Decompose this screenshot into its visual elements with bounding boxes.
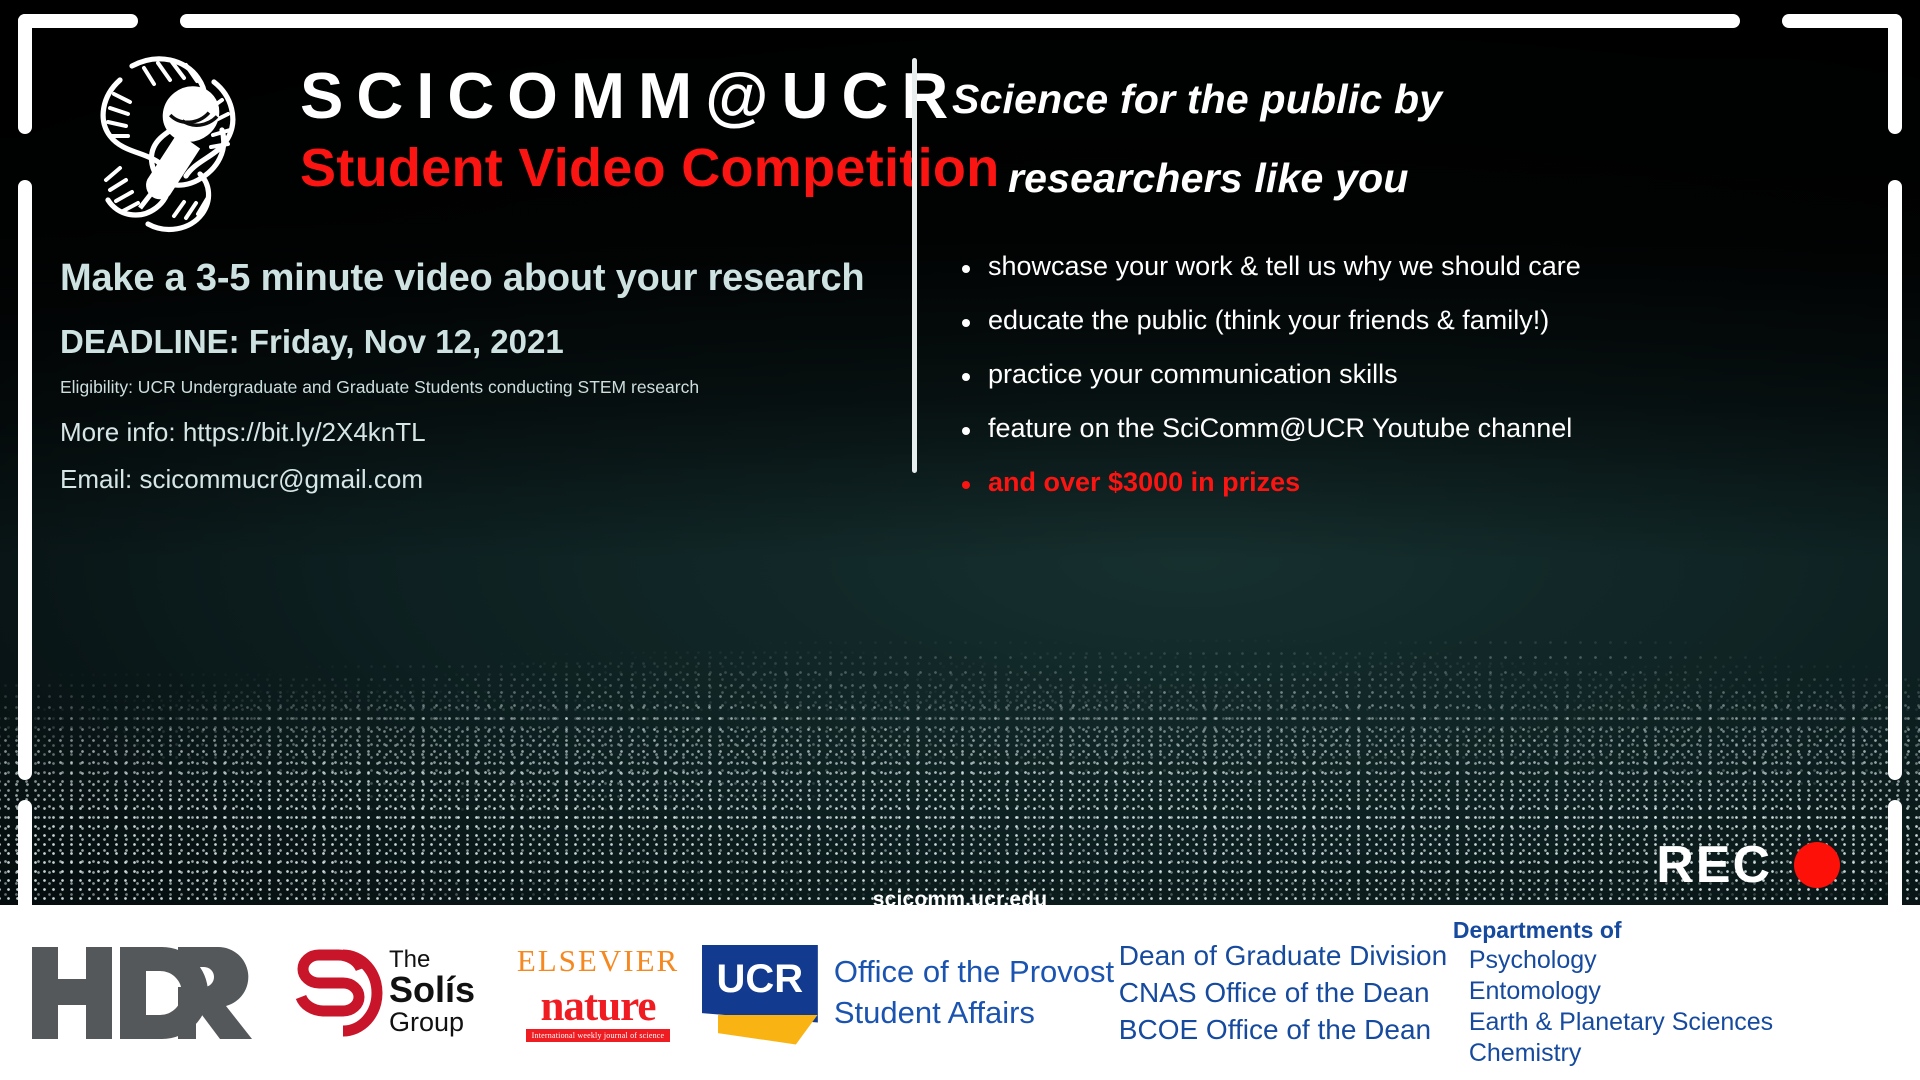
departments-title: Departments of [1453, 916, 1773, 945]
ucr-office-line-1: Office of the Provost [834, 952, 1114, 992]
headline-line-2: researchers like you [952, 139, 1852, 218]
nature-wordmark: nature [540, 987, 655, 1027]
department-item: Psychology [1453, 945, 1773, 976]
email-link[interactable]: Email: scicommucr@gmail.com [60, 464, 910, 495]
rec-indicator: REC [1656, 835, 1840, 895]
ucr-office-text: Office of the Provost Student Affairs [834, 952, 1114, 1033]
list-item-prizes: and over $3000 in prizes [952, 467, 1852, 498]
sponsor-ucr-provost: UCR Office of the Provost Student Affair… [698, 945, 1118, 1041]
poster-root: SCICOMM@UCR Student Video Competition Ma… [0, 0, 1920, 1080]
left-info-column: Make a 3-5 minute video about your resea… [60, 256, 910, 495]
subtitle-competition: Student Video Competition [300, 138, 900, 198]
column-divider [912, 58, 917, 473]
deadline-text: DEADLINE: Friday, Nov 12, 2021 [60, 323, 910, 361]
rec-label: REC [1656, 835, 1772, 895]
frame-edge-right [1888, 180, 1902, 780]
terrain-layer-1 [0, 615, 1920, 905]
more-info-link[interactable]: More info: https://bit.ly/2X4knTL [60, 417, 910, 448]
headline-text: Science for the public by researchers li… [952, 60, 1852, 217]
department-item: Earth & Planetary Sciences [1453, 1007, 1773, 1038]
sponsor-strip: The Solís Group ELSEVIER nature Internat… [0, 905, 1920, 1080]
tagline-text: Make a 3-5 minute video about your resea… [60, 256, 910, 301]
record-dot-icon [1794, 842, 1840, 888]
sponsor-deans: Dean of Graduate Division CNAS Office of… [1118, 937, 1448, 1049]
list-item: practice your communication skills [952, 359, 1852, 390]
sponsor-elsevier-nature: ELSEVIER nature International weekly jou… [498, 943, 698, 1042]
right-info-column: Science for the public by researchers li… [952, 60, 1852, 521]
dean-line-2: CNAS Office of the Dean [1119, 974, 1447, 1011]
solis-s-logo-icon [291, 945, 383, 1041]
brand-title: SCICOMM@UCR [300, 62, 900, 130]
headline-line-1: Science for the public by [952, 76, 1442, 122]
sponsor-departments: Departments of Psychology Entomology Ear… [1448, 916, 1778, 1069]
elsevier-wordmark: ELSEVIER [517, 943, 679, 979]
ucr-logo-icon: UCR [702, 945, 818, 1041]
eligibility-text: Eligibility: UCR Undergraduate and Gradu… [60, 377, 910, 398]
list-item: educate the public (think your friends &… [952, 305, 1852, 336]
department-item: Chemistry [1453, 1038, 1773, 1069]
solis-line-2: Solís [389, 972, 475, 1008]
dean-line-1: Dean of Graduate Division [1119, 937, 1447, 974]
solis-line-3: Group [389, 1008, 475, 1036]
frame-edge-top [180, 14, 1740, 28]
sponsor-solis-group: The Solís Group [268, 945, 498, 1041]
benefits-list: showcase your work & tell us why we shou… [952, 251, 1852, 498]
hdr-logo-icon [28, 939, 258, 1047]
nature-logo: nature International weekly journal of s… [526, 987, 671, 1042]
ucr-office-line-2: Student Affairs [834, 993, 1114, 1033]
title-block: SCICOMM@UCR Student Video Competition [300, 62, 900, 199]
frame-edge-left [18, 180, 32, 780]
list-item: feature on the SciComm@UCR Youtube chann… [952, 413, 1852, 444]
department-item: Entomology [1453, 976, 1773, 1007]
dean-line-3: BCOE Office of the Dean [1119, 1011, 1447, 1048]
nature-tagline: International weekly journal of science [526, 1029, 671, 1042]
ucr-letters: UCR [702, 957, 818, 1002]
list-item: showcase your work & tell us why we shou… [952, 251, 1852, 282]
sponsor-hdr [18, 939, 268, 1047]
dna-microphone-logo-icon [62, 38, 277, 253]
